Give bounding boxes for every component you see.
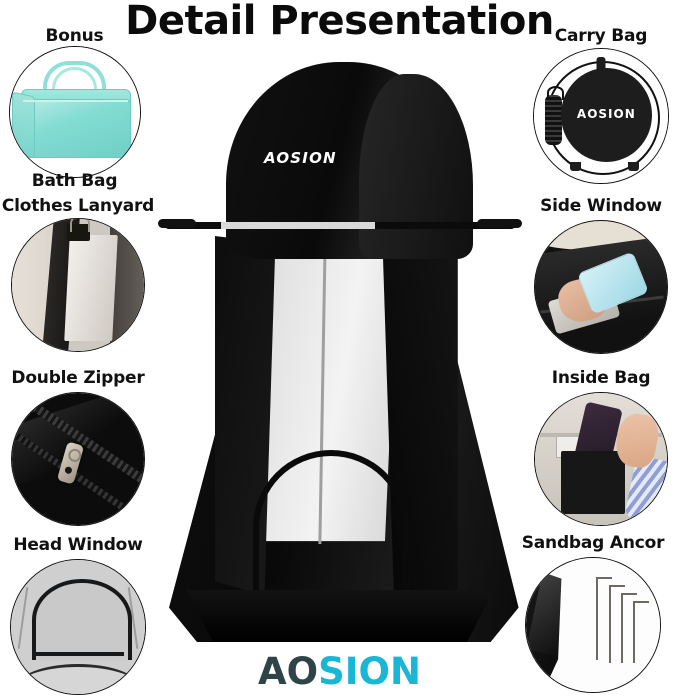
product-detail-image: Detail Presentation Bonus Bath Bag Cloth… [0,0,679,699]
tent-entry-arch [253,450,409,607]
stake-icon-1 [596,577,598,660]
feature-double-zipper: Double Zipper [2,368,154,526]
tent-crossbar-cap-left [158,219,196,228]
clothes-lanyard-illustration [12,219,144,351]
feature-caption-bonus: Bonus [46,26,104,46]
bath-bag-zipper [23,100,128,102]
lanyard-hook-icon [70,218,90,232]
feature-caption-head-window: Head Window [13,535,142,555]
feature-bonus-bath-bag: Bonus Bath Bag [2,26,147,191]
window-seam-left [17,587,28,648]
carry-bag-body: AOSION [561,68,652,162]
feature-side-window: Side Window [525,196,677,354]
inside-pocket [561,451,624,514]
tent-dome-right [359,74,473,260]
feature-image-carry-bag: AOSION [533,48,669,184]
feature-inside-bag: Inside Bag [525,368,677,526]
hanging-cloth [65,235,118,341]
feature-image-bath-bag [9,46,141,178]
carry-bag-brand-label: AOSION [561,107,652,121]
feature-image-double-zipper [11,392,145,526]
feature-caption-bath-bag: Bath Bag [32,171,118,191]
feature-image-side-window [534,220,668,354]
product-hero-tent: AOSION [150,62,530,642]
feature-clothes-lanyard: Clothes Lanyard [2,196,154,351]
feature-caption-carry-bag: Carry Bag [555,26,648,46]
tent-crossbar [165,222,515,229]
bath-bag-illustration [10,47,140,177]
tent-crossbar-cap-right [477,219,523,228]
brand-logo-prefix: AO [258,650,318,693]
feature-caption-inside-bag: Inside Bag [552,368,651,388]
tent-floor [173,590,507,642]
feature-caption-double-zipper: Double Zipper [11,368,144,388]
double-zipper-illustration [12,393,144,525]
carry-bag-illustration: AOSION [534,49,668,183]
brand-logo: AOSION [0,650,679,693]
brand-logo-suffix: SION [318,650,421,693]
feature-caption-clothes-lanyard: Clothes Lanyard [2,196,154,216]
tent-brand-logo: AOSION [264,149,337,167]
carry-bag-foot-left [570,162,581,171]
side-window-illustration [535,221,667,353]
feature-image-inside-bag [534,392,668,526]
feature-caption-side-window: Side Window [540,196,662,216]
inside-bag-illustration [535,393,667,525]
bath-bag-body [21,99,131,158]
feature-caption-sandbag-ancor: Sandbag Ancor [522,533,665,553]
feature-carry-bag: Carry Bag AOSION [525,26,677,186]
carry-bag-cord [545,95,562,146]
feature-image-clothes-lanyard [11,218,145,352]
carry-bag-foot-right [628,162,639,171]
head-window-arch [32,579,131,661]
